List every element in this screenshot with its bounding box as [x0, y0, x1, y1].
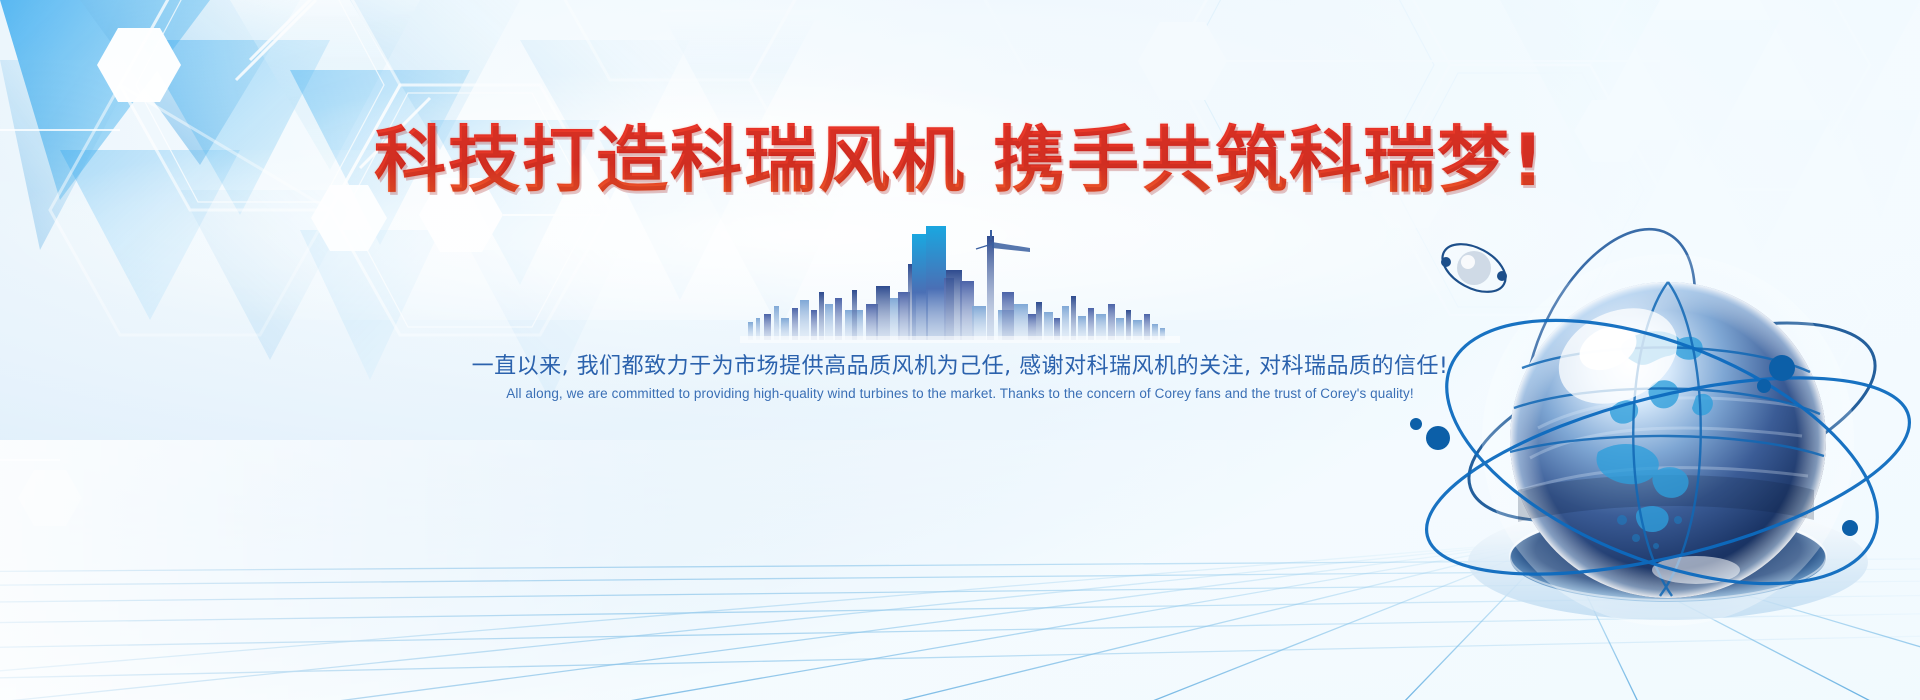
page-title: 科技打造科瑞风机 携手共筑科瑞梦!: [0, 124, 1920, 196]
subtitle-chinese: 一直以来, 我们都致力于为市场提供高品质风机为己任, 感谢对科瑞风机的关注, 对…: [0, 348, 1920, 380]
promo-banner: 科技打造科瑞风机 携手共筑科瑞梦! 一直以来, 我们都致力于为市场提供高品质风机…: [0, 0, 1920, 700]
subtitle-english: All along, we are committed to providing…: [0, 386, 1920, 401]
banner-text: 科技打造科瑞风机 携手共筑科瑞梦! 一直以来, 我们都致力于为市场提供高品质风机…: [0, 0, 1920, 700]
headline-text: 科技打造科瑞风机 携手共筑科瑞梦!: [374, 118, 1546, 202]
